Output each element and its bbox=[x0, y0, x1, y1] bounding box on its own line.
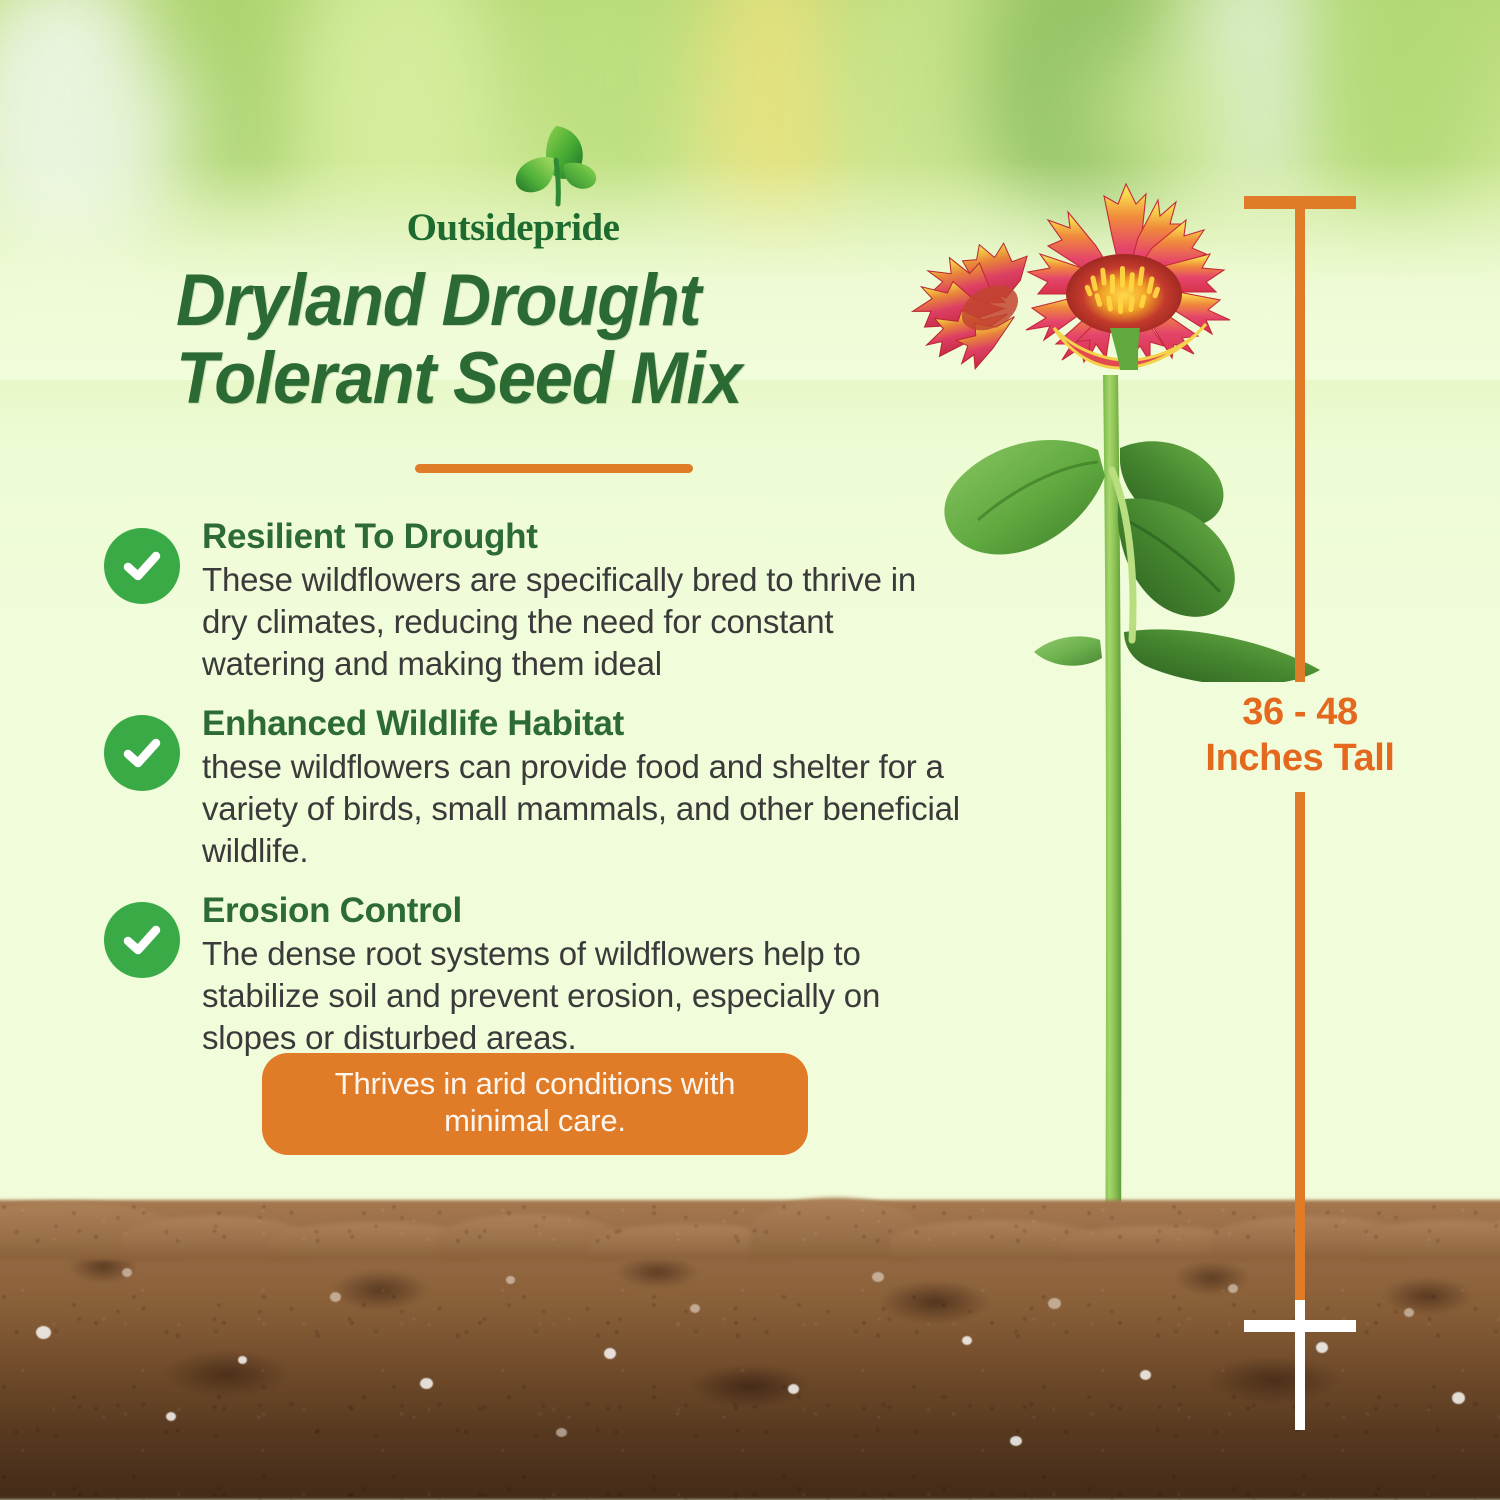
height-label: 36 - 48 Inches Tall bbox=[1190, 690, 1410, 781]
feature-title: Enhanced Wildlife Habitat bbox=[202, 703, 984, 744]
product-infographic: Outsidepride Dryland Drought Tolerant Se… bbox=[0, 0, 1500, 1500]
brand-wordmark: Outsidepride bbox=[388, 208, 638, 247]
title-line-1: Dryland Drought bbox=[176, 262, 890, 340]
feature-body: these wildflowers can provide food and s… bbox=[202, 746, 962, 872]
soil-texture bbox=[0, 1180, 1500, 1500]
title-line-2: Tolerant Seed Mix bbox=[176, 340, 890, 418]
cta-banner: Thrives in arid conditions with minimal … bbox=[262, 1053, 808, 1155]
feature-title: Erosion Control bbox=[202, 890, 984, 931]
ruler-cap-bottom bbox=[1244, 1320, 1356, 1332]
soil-bed bbox=[0, 1180, 1500, 1500]
feature-body: These wildflowers are specifically bred … bbox=[202, 559, 962, 685]
check-circle-icon bbox=[104, 715, 180, 791]
leaf-sprout-icon bbox=[496, 122, 606, 208]
page-title: Dryland Drought Tolerant Seed Mix bbox=[176, 262, 890, 418]
feature-item: Erosion Control The dense root systems o… bbox=[104, 890, 984, 1059]
height-range: 36 - 48 bbox=[1190, 690, 1410, 736]
feature-title: Resilient To Drought bbox=[202, 516, 984, 557]
feature-item: Resilient To Drought These wildflowers a… bbox=[104, 516, 984, 685]
check-circle-icon bbox=[104, 902, 180, 978]
brand-logo: Outsidepride bbox=[388, 122, 638, 252]
height-unit: Inches Tall bbox=[1190, 736, 1410, 782]
title-divider bbox=[415, 464, 693, 473]
check-circle-icon bbox=[104, 528, 180, 604]
feature-item: Enhanced Wildlife Habitat these wildflow… bbox=[104, 703, 984, 872]
feature-body: The dense root systems of wildflowers he… bbox=[202, 933, 962, 1059]
feature-list: Resilient To Drought These wildflowers a… bbox=[104, 516, 984, 1077]
